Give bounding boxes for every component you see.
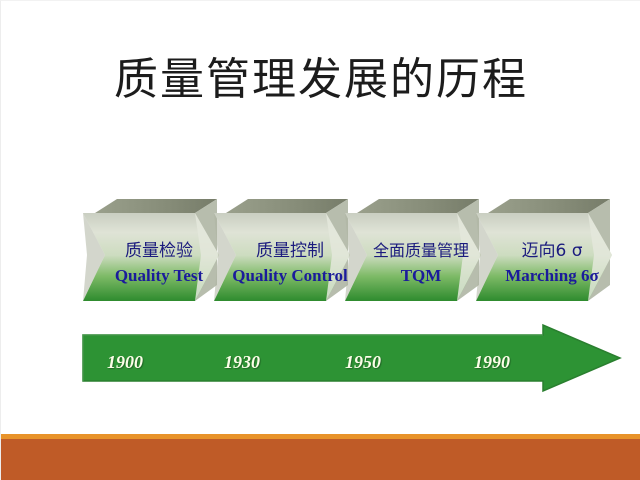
timeline-arrow: 1900 1930 1950 1990 (79, 321, 624, 395)
chevron-block-shape-icon (476, 197, 628, 317)
stage-block-3[interactable]: 全面质量管理 TQM (345, 197, 497, 317)
stage-block-2[interactable]: 质量控制 Quality Control (214, 197, 366, 317)
chevron-block-shape-icon (214, 197, 366, 317)
chevron-block-shape-icon (83, 197, 235, 317)
stage-block-4[interactable]: 迈向6 σ Marching 6σ (476, 197, 628, 317)
footer-bar (1, 439, 640, 480)
chevron-block-shape-icon (345, 197, 497, 317)
page-title: 质量管理发展的历程 (1, 53, 640, 107)
stage-block-1[interactable]: 质量检验 Quality Test (83, 197, 235, 317)
right-arrow-icon (79, 321, 624, 395)
stage-block-row: 质量检验 Quality Test (1, 197, 640, 317)
slide-canvas: 质量管理发展的历程 (0, 0, 640, 480)
